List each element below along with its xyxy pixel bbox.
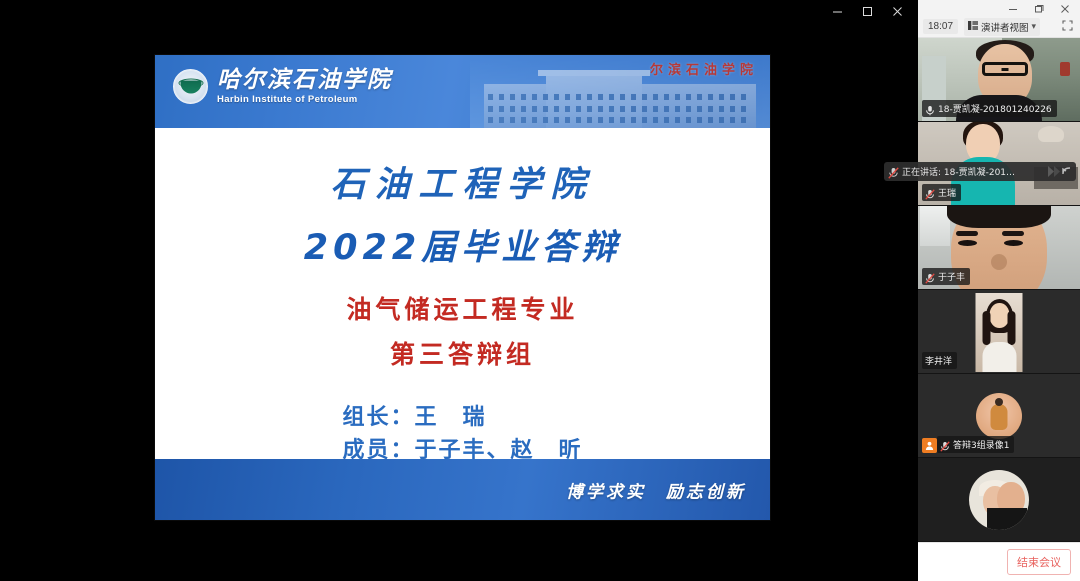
participant-tile[interactable]: 18-贾凯凝-201801240226 [918, 38, 1080, 122]
participant-label: 于子丰 [922, 268, 970, 285]
slide-body: 石油工程学院 2022届毕业答辩 油气储运工程专业 第三答辩组 组长：王 瑞 成… [155, 128, 770, 459]
slide-header-band: 尔滨石油学院 哈尔滨石油学院 Harbin Institute of Petro… [155, 55, 770, 128]
meeting-toolbar: 18:07 演讲者视图 ▾ [918, 0, 1080, 38]
speaker-arrows-icon[interactable] [1046, 165, 1072, 178]
chevron-down-icon[interactable]: ▾ [1032, 21, 1037, 32]
fullscreen-icon[interactable] [1060, 20, 1075, 34]
active-speaker-banner: 正在讲话: 18-贾凯凝-201… [884, 162, 1076, 181]
minimize-icon[interactable] [822, 2, 852, 20]
slide-subtitle-1: 油气储运工程专业 [155, 270, 770, 326]
participant-name: 王瑞 [938, 186, 956, 199]
roster-line-leader: 组长：王 瑞 [342, 401, 582, 434]
view-mode-selector[interactable]: 演讲者视图 ▾ [964, 18, 1040, 36]
share-window-titlebar [0, 0, 918, 22]
active-speaker-text: 正在讲话: 18-贾凯凝-201… [902, 165, 1042, 178]
participant-name: 答辩3组录像1 [953, 438, 1009, 451]
participant-tile[interactable]: 于子丰 [918, 206, 1080, 290]
watermark-text: 尔滨石油学院 [650, 59, 758, 78]
participant-tiles: 18-贾凯凝-201801240226 王瑞 [918, 38, 1080, 542]
meeting-window-controls [1000, 1, 1078, 17]
host-badge [922, 438, 937, 453]
participant-name: 于子丰 [938, 270, 965, 283]
mic-muted-icon [925, 271, 935, 282]
participant-tile[interactable]: 李井洋 [918, 290, 1080, 374]
share-window-controls [822, 2, 912, 20]
avatar-placeholder [918, 458, 1080, 541]
brand-name-cn: 哈尔滨石油学院 [217, 68, 392, 92]
meeting-subtoolbar: 18:07 演讲者视图 ▾ [918, 16, 1080, 37]
slide-title-1: 石油工程学院 [155, 128, 770, 207]
university-logo-icon [173, 69, 208, 104]
close-icon[interactable] [882, 2, 912, 20]
presentation-slide: 尔滨石油学院 哈尔滨石油学院 Harbin Institute of Petro… [155, 55, 770, 520]
university-motto: 博学求实 励志创新 [566, 477, 746, 502]
mic-muted-icon [925, 103, 935, 114]
shared-screen-window: 尔滨石油学院 哈尔滨石油学院 Harbin Institute of Petro… [0, 0, 918, 581]
mic-muted-icon [940, 439, 950, 450]
view-mode-label: 演讲者视图 [981, 20, 1029, 34]
minimize-icon[interactable] [1000, 1, 1026, 17]
university-brand: 哈尔滨石油学院 Harbin Institute of Petroleum [173, 68, 392, 105]
participant-tile[interactable]: 答辩3组录像1 [918, 374, 1080, 458]
slide-title-2: 2022届毕业答辩 [155, 207, 770, 270]
participant-label: 王瑞 [922, 184, 961, 201]
mic-muted-icon [888, 166, 898, 177]
mic-muted-icon [925, 187, 935, 198]
meeting-bottom-bar: 结束会议 [918, 542, 1080, 581]
participant-label: 答辩3组录像1 [937, 436, 1014, 453]
slide-subtitle-2: 第三答辩组 [155, 326, 770, 371]
slide-footer-band: 博学求实 励志创新 [155, 459, 770, 520]
participant-tile[interactable] [918, 458, 1080, 542]
maximize-icon[interactable] [852, 2, 882, 20]
close-icon[interactable] [1052, 1, 1078, 17]
layout-grid-icon [968, 21, 978, 33]
meeting-clock: 18:07 [923, 19, 958, 34]
meeting-panel: 18:07 演讲者视图 ▾ [918, 0, 1080, 581]
screen-root: 尔滨石油学院 哈尔滨石油学院 Harbin Institute of Petro… [0, 0, 1080, 581]
brand-name-en: Harbin Institute of Petroleum [217, 94, 392, 105]
participant-name: 李井洋 [925, 354, 952, 367]
participant-name: 18-贾凯凝-201801240226 [938, 102, 1052, 115]
restore-icon[interactable] [1026, 1, 1052, 17]
end-meeting-button[interactable]: 结束会议 [1007, 549, 1071, 575]
participant-label: 李井洋 [922, 352, 957, 369]
participant-label: 18-贾凯凝-201801240226 [922, 100, 1057, 117]
